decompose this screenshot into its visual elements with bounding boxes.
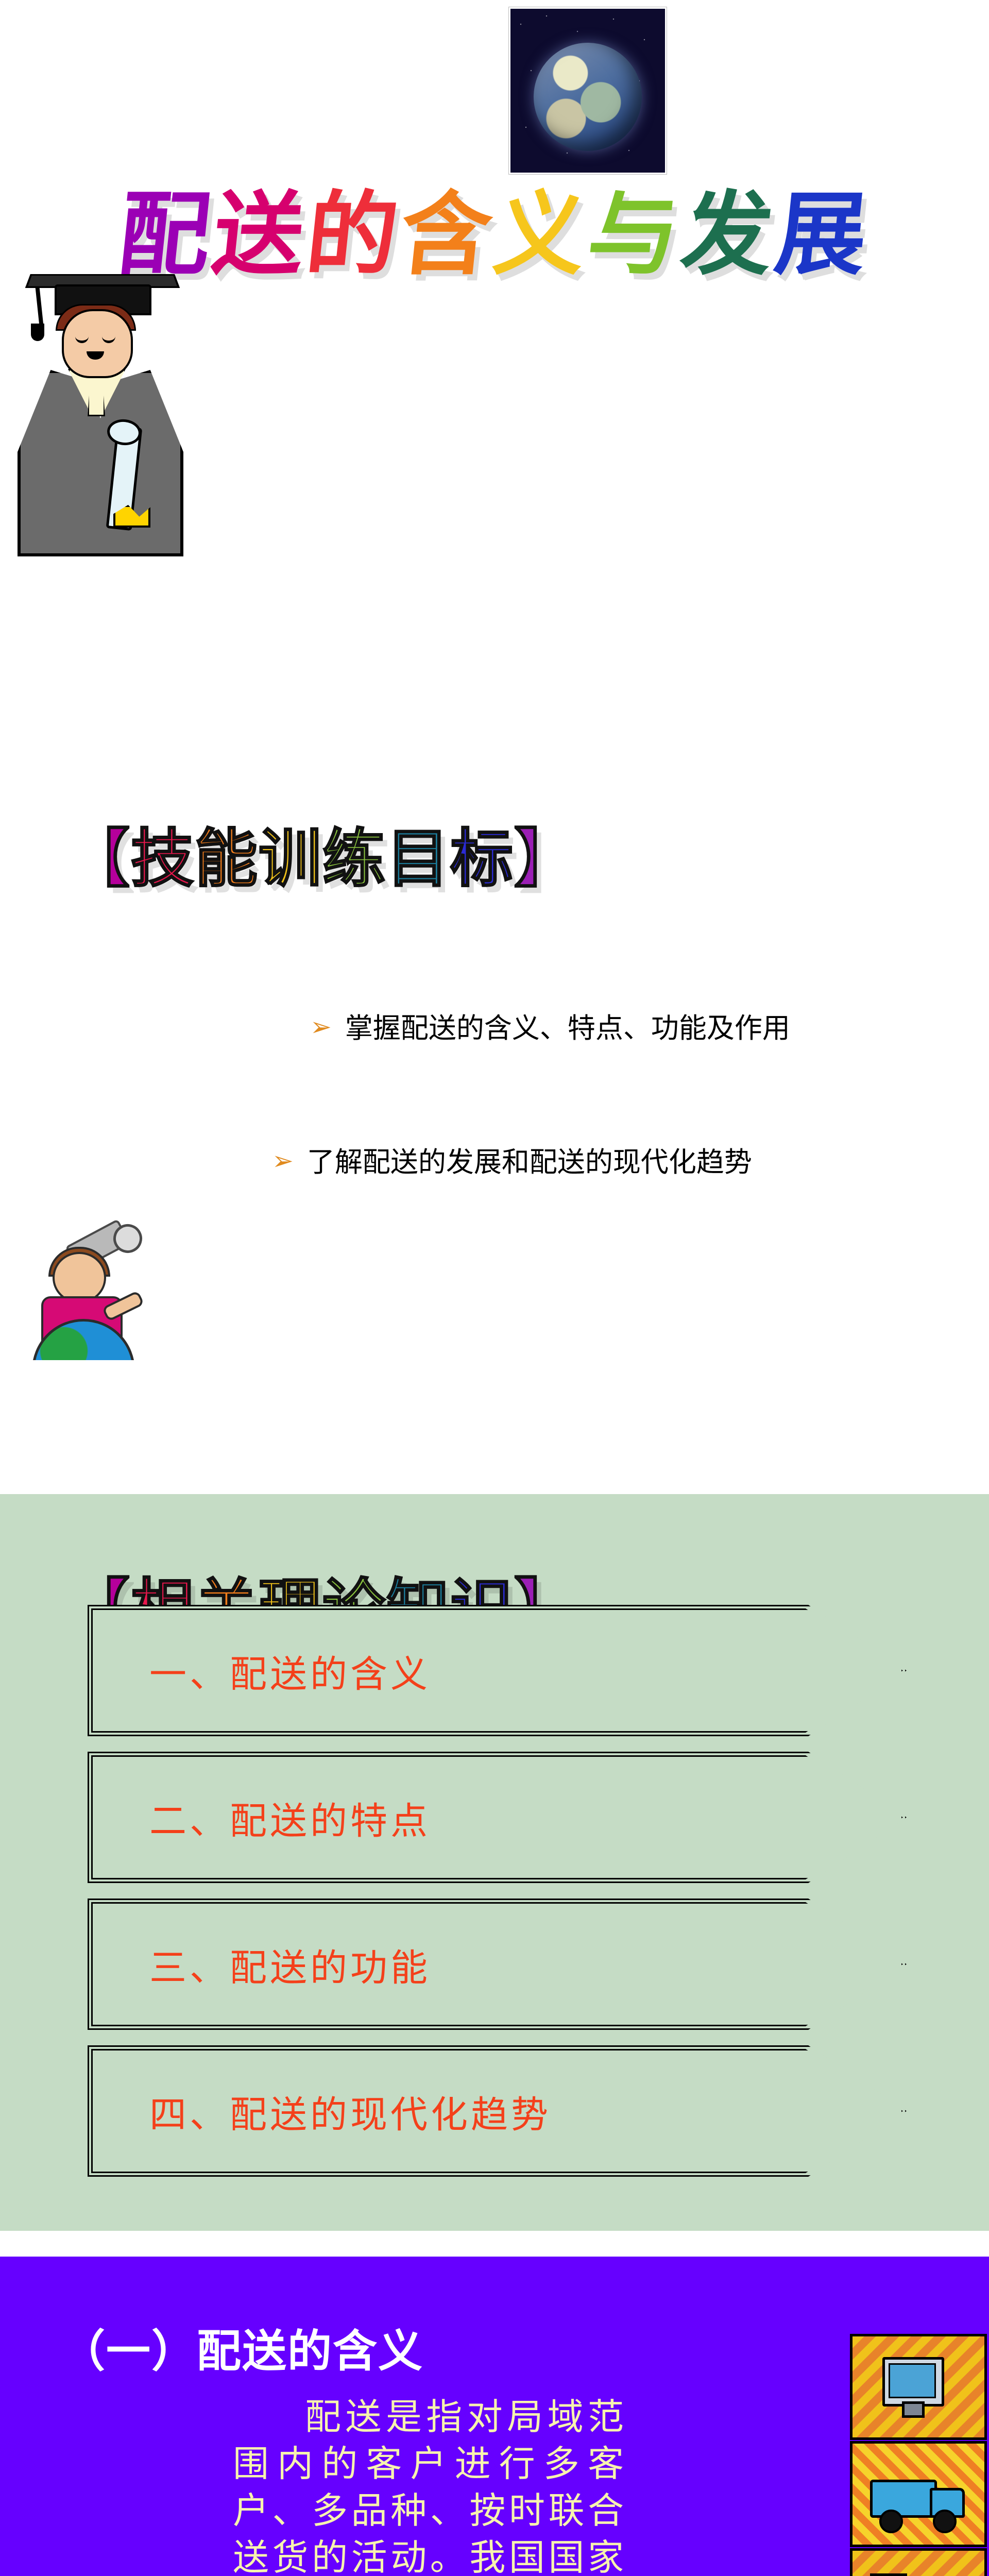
chevron-item-4[interactable]: 四、配送的现代化趋势 (88, 2045, 907, 2177)
truck-wheel (879, 2510, 903, 2533)
wordart-char-3: 训 (259, 827, 322, 890)
wordart-char-0: 配 (115, 190, 218, 280)
presentation-page: 配送的含义与发展 【技能训练目标】 ➢ 掌握配送的含义、特点、功能及作用 (0, 0, 989, 2576)
wordart-char-6: 标 (450, 827, 514, 890)
objective-bullet-1: ➢ 掌握配送的含义、特点、功能及作用 (310, 1011, 790, 1046)
section-title: （一）配送的含义 (61, 2315, 423, 2379)
page-title: 配送的含义与发展 (62, 190, 927, 280)
wordart-char-7: 】 (514, 827, 578, 890)
child-arm (101, 1290, 144, 1321)
definition-paragraph: 配送是指对局域范围内的客户进行多客户、多品种、按时联合送货的活动。我国国家标准《… (233, 2394, 624, 2576)
left-eye (75, 334, 89, 343)
bullet-arrow-icon: ➢ (272, 1145, 294, 1177)
truck-cargo-box (870, 2480, 937, 2518)
chevron-item-3-label: 三、配送的功能 (149, 1937, 431, 1991)
pattern-background (852, 2551, 984, 2576)
wordart-char-2: 的 (302, 190, 406, 280)
side-clipart-strip: ✦ ✦ ✦ (850, 2334, 989, 2576)
objective-bullet-1-text: 掌握配送的含义、特点、功能及作用 (345, 1011, 790, 1046)
cargo-box (870, 2573, 907, 2576)
wordart-char-2: 能 (195, 827, 259, 890)
right-eye (102, 334, 115, 343)
wordart-char-0: 【 (67, 827, 131, 890)
chevron-item-1[interactable]: 一、配送的含义 (88, 1605, 907, 1736)
wordart-char-3: 含 (396, 190, 500, 280)
wordart-char-5: 与 (584, 190, 687, 280)
wordart-char-6: 发 (677, 190, 781, 280)
wordart-char-4: 义 (490, 190, 593, 280)
face (62, 309, 133, 378)
objective-bullet-2: ➢ 了解配送的发展和配送的现代化趋势 (272, 1145, 752, 1180)
truck-wheel (933, 2510, 957, 2533)
slide-definition: （一）配送的含义 配送是指对局域范围内的客户进行多客户、多品种、按时联合送货的活… (0, 2257, 989, 2576)
chevron-item-1-label: 一、配送的含义 (149, 1643, 431, 1698)
child-head (53, 1252, 106, 1303)
chevron-item-3[interactable]: 三、配送的功能 (88, 1899, 907, 2030)
slide-title: 配送的含义与发展 【技能训练目标】 ➢ 掌握配送的含义、特点、功能及作用 (0, 0, 989, 1360)
wordart-char-5: 目 (386, 827, 450, 890)
chevron-item-2-label: 二、配送的特点 (149, 1790, 431, 1844)
earth-sphere (534, 43, 642, 151)
monitor-screen (889, 2363, 936, 2398)
bullet-arrow-icon: ➢ (310, 1011, 332, 1043)
monitor-stand (902, 2401, 925, 2418)
slide-theory: 【相关理论知识】 一、配送的含义 二、配送的特点 三、配送的功能 四、配送的现代… (0, 1494, 989, 2231)
wordart-char-1: 送 (209, 190, 312, 280)
wordart-char-7: 展 (771, 190, 875, 280)
chevron-item-4-label: 四、配送的现代化趋势 (149, 2084, 551, 2138)
wordart-char-1: 技 (131, 827, 195, 890)
mouth (87, 351, 104, 360)
delivery-truck-clipart (850, 2441, 987, 2547)
chevron-item-2[interactable]: 二、配送的特点 (88, 1752, 907, 1883)
objective-bullet-2-text: 了解配送的发展和配送的现代化趋势 (307, 1145, 752, 1180)
graduate-student-clipart (10, 272, 216, 550)
computer-monitor-clipart (850, 2334, 987, 2440)
stacked-boxes-clipart (850, 2548, 987, 2576)
child-with-globe-and-telescope-clipart (12, 1231, 167, 1360)
earth-globe-photo (509, 7, 667, 174)
wordart-char-4: 练 (322, 827, 386, 890)
tassel-ball (31, 324, 44, 341)
skill-objectives-heading: 【技能训练目标】 (67, 827, 578, 890)
